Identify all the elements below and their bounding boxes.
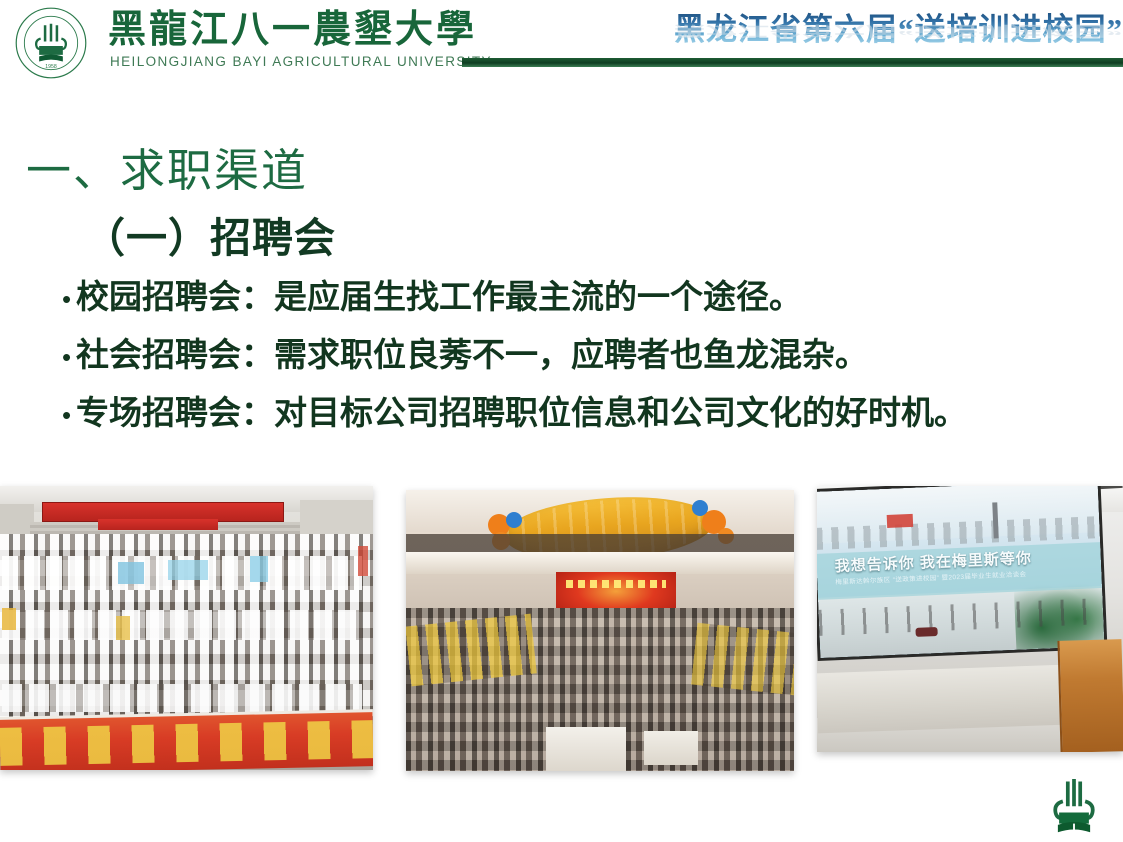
university-name-en: HEILONGJIANG BAYI AGRICULTURAL UNIVERSIT… [110,54,492,69]
led-screen-recruitment-photo: 我想告诉你 我在梅里斯等你 梅里斯达斡尔族区 “送政策进校园” 暨2023届毕业… [817,486,1123,752]
list-item: • 校园招聘会：是应届生找工作最主流的一个途径。 [62,276,1107,318]
bullet-text: 校园招聘会：是应届生找工作最主流的一个途径。 [76,276,802,318]
bullet-list: • 校园招聘会：是应届生找工作最主流的一个途径。 • 社会招聘会：需求职位良莠不… [62,276,1107,450]
header-divider-bar [462,58,1123,67]
photo3-led-screen: 我想告诉你 我在梅里斯等你 梅里斯达斡尔族区 “送政策进校园” 暨2023届毕业… [817,486,1104,658]
subsection-heading: （一）招聘会 [84,204,336,264]
bullet-text: 社会招聘会：需求职位良莠不一，应聘者也鱼龙混杂。 [76,334,868,376]
university-emblem-icon [1041,774,1107,836]
bullet-text: 专场招聘会：对目标公司招聘职位信息和公司文化的好时机。 [76,392,967,434]
list-item: • 社会招聘会：需求职位良莠不一，应聘者也鱼龙混杂。 [62,334,1107,376]
university-seal-icon: 1958 [14,6,88,80]
section-heading: 一、求职渠道 [26,134,308,199]
slide-header: 1958 黑龍江八一農墾大學 HEILONGJIANG BAYI AGRICUL… [0,0,1123,92]
photo3-podium [1057,639,1123,752]
bullet-marker-icon: • [62,344,76,370]
campus-job-fair-hall-photo [0,486,373,770]
event-banner-title: 黑龙江省第六届“送培训进校园” [600,4,1123,49]
svg-text:1958: 1958 [45,64,57,70]
bullet-marker-icon: • [62,286,76,312]
list-item: • 专场招聘会：对目标公司招聘职位信息和公司文化的好时机。 [62,392,1107,434]
mall-atrium-job-fair-photo [406,490,794,771]
bullet-marker-icon: • [62,402,76,428]
university-name-cn: 黑龍江八一農墾大學 [108,8,477,52]
